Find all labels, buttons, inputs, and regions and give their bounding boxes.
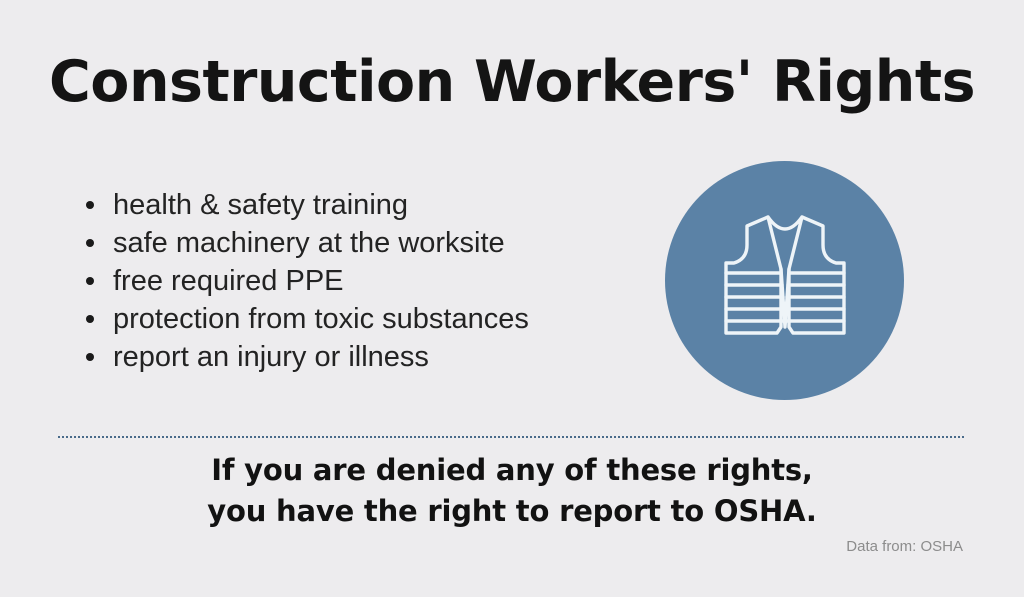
list-item-label: protection from toxic substances bbox=[113, 303, 529, 335]
list-item: health & safety training bbox=[80, 186, 640, 224]
list-item: protection from toxic substances bbox=[80, 300, 640, 338]
bullet-icon bbox=[86, 315, 94, 323]
source-attribution: Data from: OSHA bbox=[846, 538, 963, 555]
safety-vest-icon bbox=[711, 207, 859, 355]
dotted-divider bbox=[58, 436, 964, 438]
infographic-poster: Construction Workers' Rights health & sa… bbox=[0, 0, 1024, 597]
rights-list: health & safety training safe machinery … bbox=[80, 186, 640, 376]
safety-vest-badge bbox=[665, 161, 904, 400]
list-item-label: free required PPE bbox=[113, 265, 344, 297]
callout-line-2: you have the right to report to OSHA. bbox=[0, 491, 1024, 532]
list-item-label: health & safety training bbox=[113, 189, 408, 221]
list-item: free required PPE bbox=[80, 262, 640, 300]
bullet-icon bbox=[86, 201, 94, 209]
bullet-icon bbox=[86, 239, 94, 247]
list-item-label: safe machinery at the worksite bbox=[113, 227, 505, 259]
list-item: safe machinery at the worksite bbox=[80, 224, 640, 262]
page-title: Construction Workers' Rights bbox=[0, 54, 1024, 111]
callout-line-1: If you are denied any of these rights, bbox=[0, 450, 1024, 491]
bullet-icon bbox=[86, 277, 94, 285]
list-item: report an injury or illness bbox=[80, 338, 640, 376]
list-item-label: report an injury or illness bbox=[113, 341, 429, 373]
callout-text: If you are denied any of these rights, y… bbox=[0, 450, 1024, 532]
bullet-icon bbox=[86, 353, 94, 361]
